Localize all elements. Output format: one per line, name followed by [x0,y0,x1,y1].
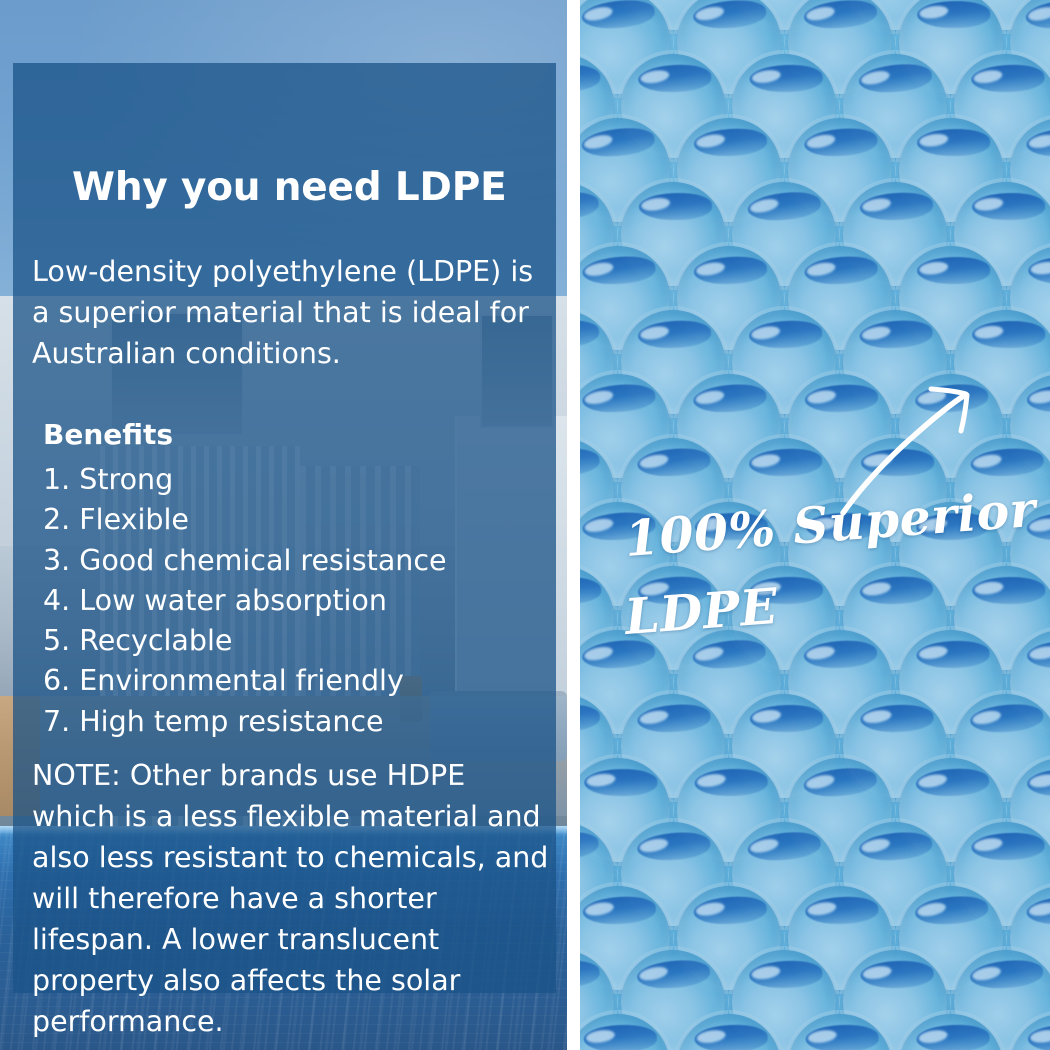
list-item: 2. Flexible [43,500,543,540]
note-paragraph: NOTE: Other brands use HDPE which is a l… [32,755,552,1042]
list-item: 3. Good chemical resistance [43,541,543,581]
callout-line-2: LDPE [623,577,780,646]
poster-canvas: Why you need LDPE Low-density polyethyle… [0,0,1050,1050]
intro-paragraph: Low-density polyethylene (LDPE) is a sup… [32,251,552,374]
list-item: 7. High temp resistance [43,702,543,742]
list-item: 6. Environmental friendly [43,661,543,701]
panel-divider [567,0,580,1050]
left-panel: Why you need LDPE Low-density polyethyle… [0,0,567,1050]
list-item: 5. Recyclable [43,621,543,661]
list-item: 1. Strong [43,460,543,500]
right-panel: 100% Superior LDPE [580,0,1050,1050]
list-item: 4. Low water absorption [43,581,543,621]
page-title: Why you need LDPE [72,168,507,207]
benefits-heading: Benefits [43,421,173,449]
info-card: Why you need LDPE Low-density polyethyle… [13,63,556,993]
benefits-list: 1. Strong 2. Flexible 3. Good chemical r… [43,460,543,742]
